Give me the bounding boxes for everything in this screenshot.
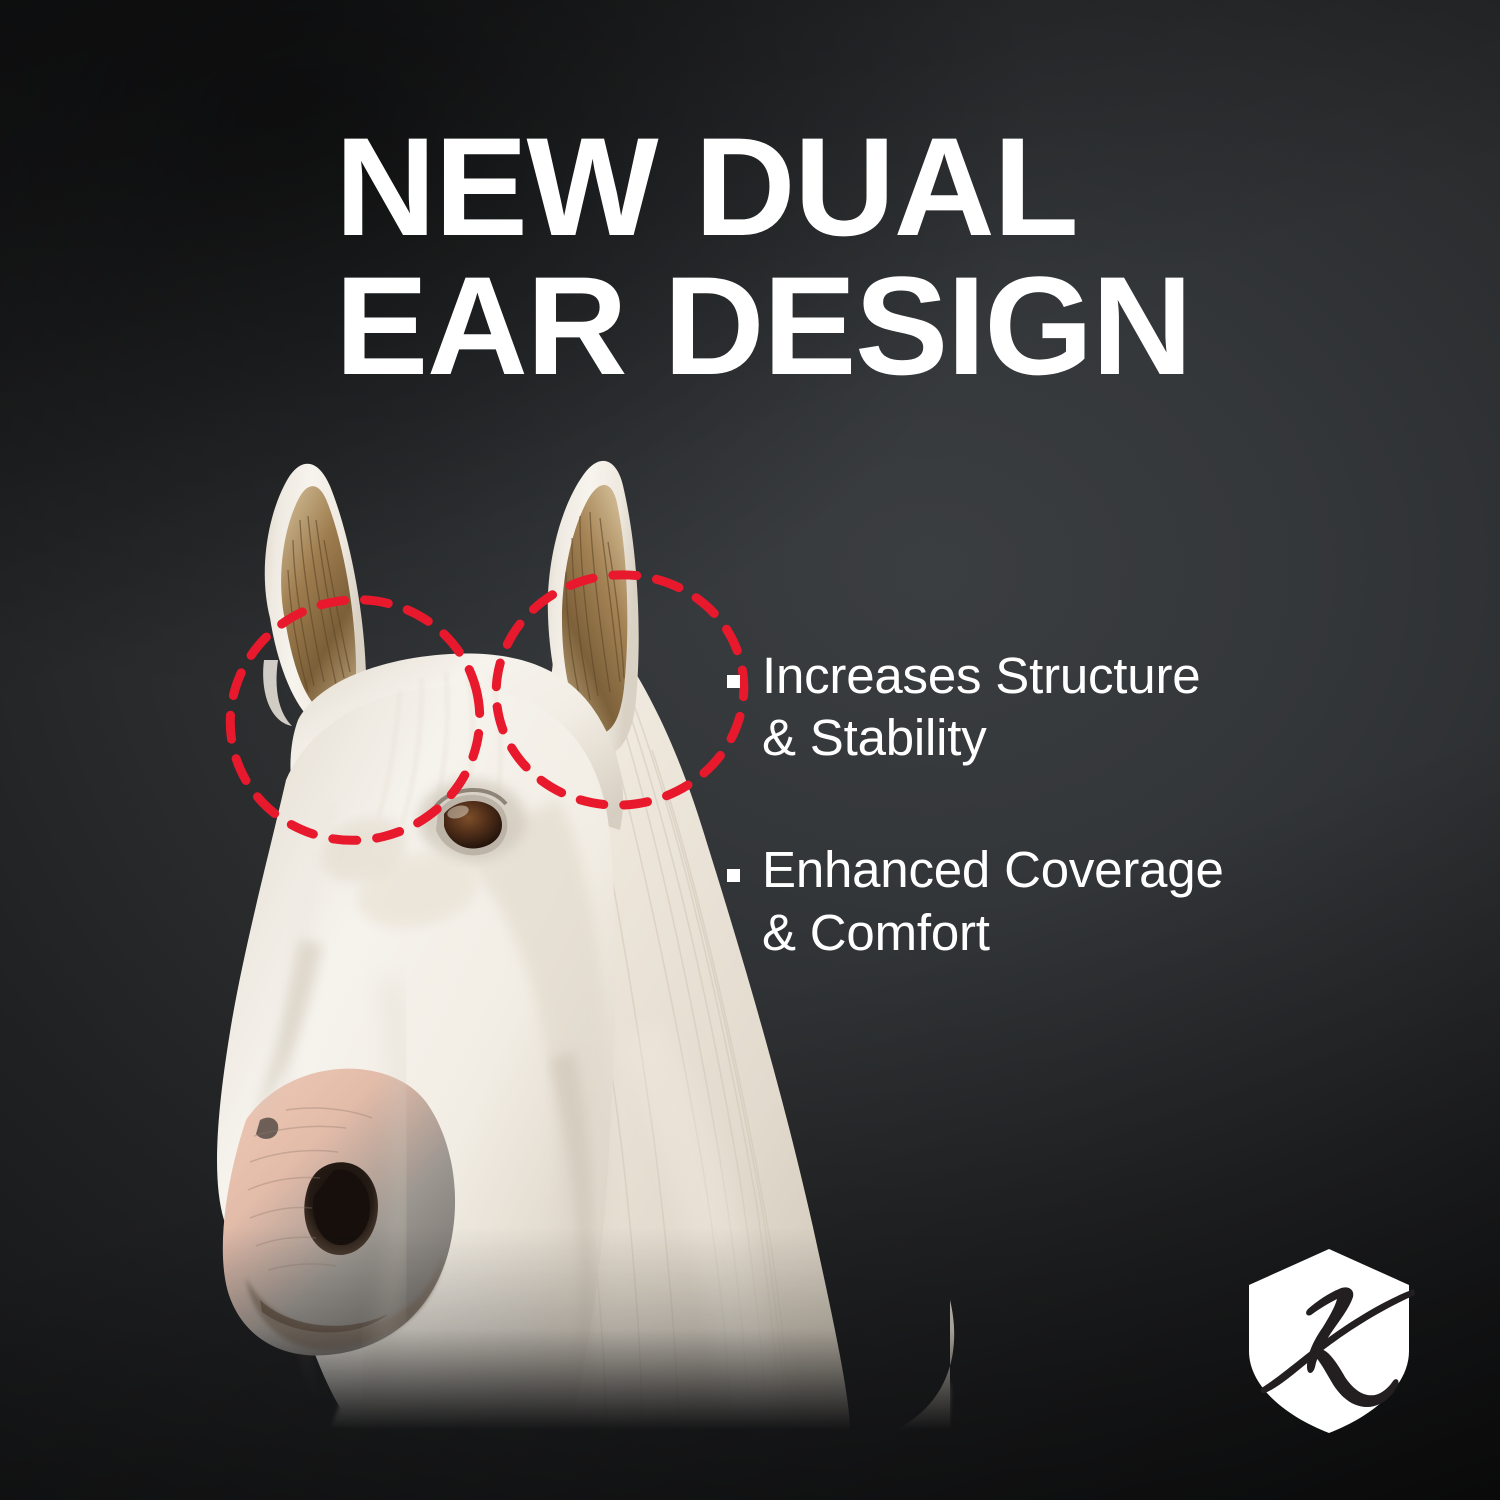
feature-text: Enhanced Coverage & Comfort xyxy=(762,839,1224,963)
feature-list: Increases Structure & Stability Enhanced… xyxy=(727,645,1427,964)
list-item: Increases Structure & Stability xyxy=(727,645,1427,769)
feature-line-1: Enhanced Coverage xyxy=(762,841,1224,898)
headline-line-2: EAR DESIGN xyxy=(335,257,1385,396)
feature-line-2: & Stability xyxy=(762,709,987,766)
square-bullet-icon xyxy=(727,869,740,882)
promo-banner: NEW DUAL EAR DESIGN Increases Structure … xyxy=(0,0,1500,1500)
feature-text: Increases Structure & Stability xyxy=(762,645,1200,769)
headline-line-1: NEW DUAL xyxy=(335,118,1385,257)
brand-logo xyxy=(1243,1247,1415,1435)
feature-line-1: Increases Structure xyxy=(762,647,1200,704)
list-item: Enhanced Coverage & Comfort xyxy=(727,839,1427,963)
feature-line-2: & Comfort xyxy=(762,904,990,961)
page-title: NEW DUAL EAR DESIGN xyxy=(335,118,1385,395)
square-bullet-icon xyxy=(727,675,740,688)
